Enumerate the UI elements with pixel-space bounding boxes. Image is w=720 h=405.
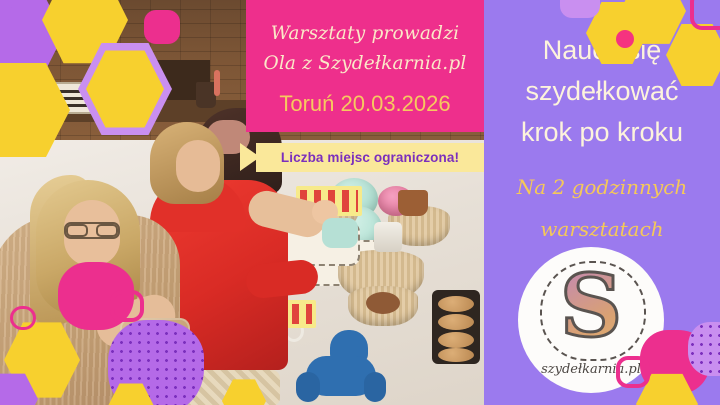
- promo-poster: Warsztaty prowadzi Ola z Szydełkarnia.pl…: [0, 0, 720, 405]
- photo-tool-cup: [196, 82, 216, 108]
- photo-basket-inner: [366, 292, 400, 314]
- rounded-square-pink-outline-left: [110, 290, 144, 322]
- photo-brush: [214, 70, 220, 96]
- photo-person-red-face: [176, 140, 220, 192]
- rounded-square-pink-outline-right: [690, 0, 720, 30]
- photo-cookie: [438, 348, 474, 362]
- photo-small-cup: [398, 190, 428, 216]
- photo-cookie: [438, 332, 474, 348]
- pink-title-banner: Warsztaty prowadzi Ola z Szydełkarnia.pl…: [246, 0, 484, 132]
- circle-pink-top-right: [616, 30, 634, 48]
- subline-line-1: Na 2 godzinnych: [484, 166, 720, 208]
- hexagon-purple-dotted-bottom-right: [688, 322, 720, 376]
- photo-amigurumi-arm: [296, 372, 320, 402]
- yellow-banner-text: Liczba miejsc ograniczona!: [281, 150, 459, 165]
- banner-line-2: Ola z Szydełkarnia.pl: [263, 49, 466, 79]
- rounded-square-pink-outline-left-2: [10, 306, 36, 330]
- dot-purple-top-left: [0, 6, 14, 20]
- yellow-notice-banner: Liczba miejsc ograniczona!: [256, 143, 484, 172]
- photo-amigurumi-arm: [364, 372, 386, 402]
- photo-eyeglasses: [64, 222, 120, 239]
- headline-line-3: krok po kroku: [484, 112, 720, 153]
- photo-glass-jar: [374, 222, 402, 252]
- banner-line-1: Warsztaty prowadzi: [271, 19, 460, 49]
- rounded-square-purple-top-right: [560, 0, 600, 18]
- rounded-square-pink-top: [144, 10, 180, 44]
- logo-monogram-outline: S: [518, 257, 664, 357]
- photo-cookie: [438, 296, 474, 312]
- subline-line-2: warsztatach: [484, 208, 720, 250]
- photo-cookie: [438, 314, 474, 330]
- photo-crochet-piece: [322, 218, 358, 248]
- yellow-banner-arrow: [240, 143, 260, 171]
- banner-date-location: Toruń 20.03.2026: [279, 91, 450, 117]
- purple-subline: Na 2 godzinnych warsztatach: [484, 166, 720, 250]
- rounded-square-pink-outline-bottom-right: [616, 356, 650, 388]
